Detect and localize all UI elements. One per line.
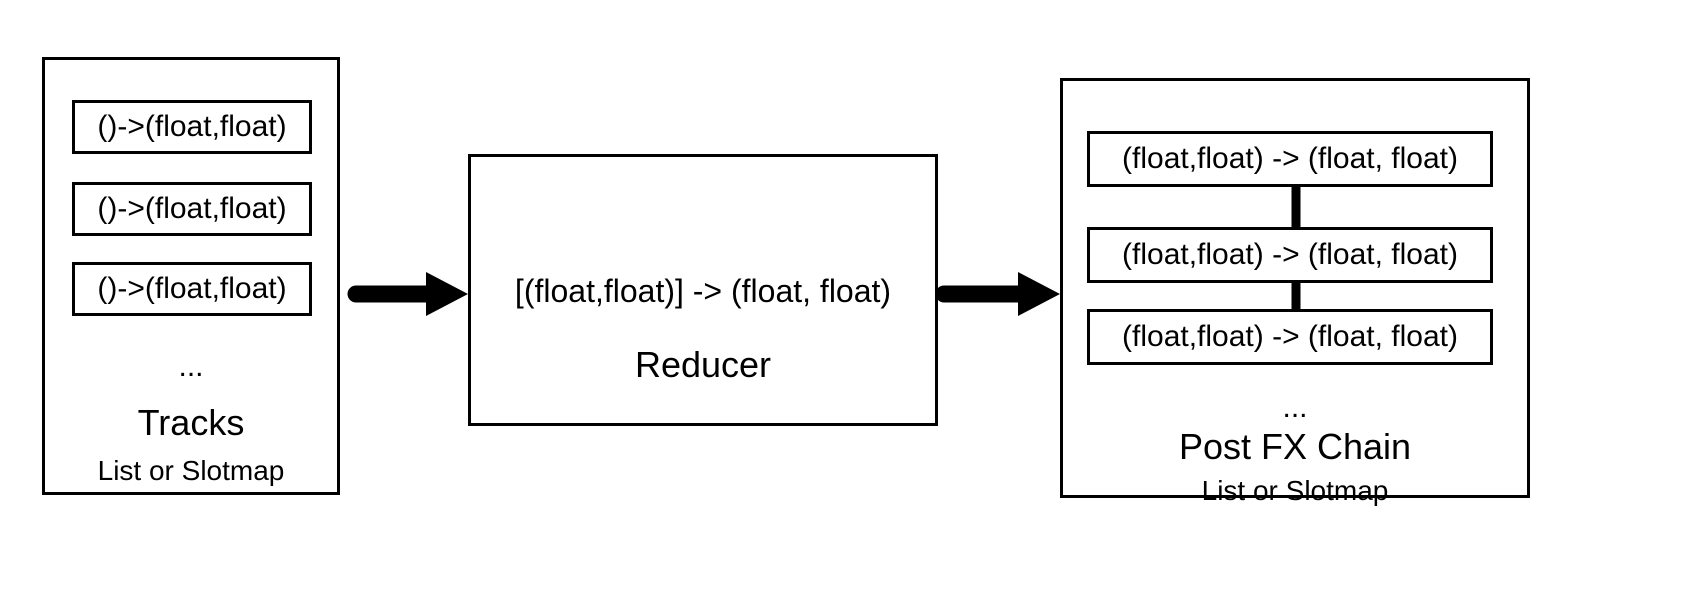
postfx-item-3-label: (float,float) -> (float, float) — [1122, 322, 1458, 352]
postfx-container: (float,float) -> (float, float) (float,f… — [1060, 78, 1530, 498]
arrow-tracks-to-reducer — [352, 268, 470, 320]
postfx-item-1-label: (float,float) -> (float, float) — [1122, 144, 1458, 174]
arrow-reducer-to-postfx — [940, 268, 1062, 320]
postfx-item-2-label: (float,float) -> (float, float) — [1122, 240, 1458, 270]
diagram-canvas: ()->(float,float) ()->(float,float) ()->… — [0, 0, 1694, 600]
reducer-label: Reducer — [471, 347, 935, 383]
track-item-3[interactable]: ()->(float,float) — [72, 262, 312, 316]
track-item-1-label: ()->(float,float) — [97, 112, 286, 142]
postfx-item-3[interactable]: (float,float) -> (float, float) — [1087, 309, 1493, 365]
tracks-title: Tracks — [45, 405, 337, 441]
tracks-container: ()->(float,float) ()->(float,float) ()->… — [42, 57, 340, 495]
postfx-item-1[interactable]: (float,float) -> (float, float) — [1087, 131, 1493, 187]
track-item-2[interactable]: ()->(float,float) — [72, 182, 312, 236]
tracks-ellipsis: ... — [45, 352, 337, 382]
postfx-subtitle: List or Slotmap — [1063, 477, 1527, 505]
reducer-signature: [(float,float)] -> (float, float) — [471, 275, 935, 307]
postfx-title: Post FX Chain — [1063, 429, 1527, 465]
tracks-subtitle: List or Slotmap — [45, 457, 337, 485]
track-item-1[interactable]: ()->(float,float) — [72, 100, 312, 154]
postfx-item-2[interactable]: (float,float) -> (float, float) — [1087, 227, 1493, 283]
reducer-container: [(float,float)] -> (float, float) Reduce… — [468, 154, 938, 426]
track-item-3-label: ()->(float,float) — [97, 274, 286, 304]
track-item-2-label: ()->(float,float) — [97, 194, 286, 224]
postfx-ellipsis: ... — [1063, 393, 1527, 423]
